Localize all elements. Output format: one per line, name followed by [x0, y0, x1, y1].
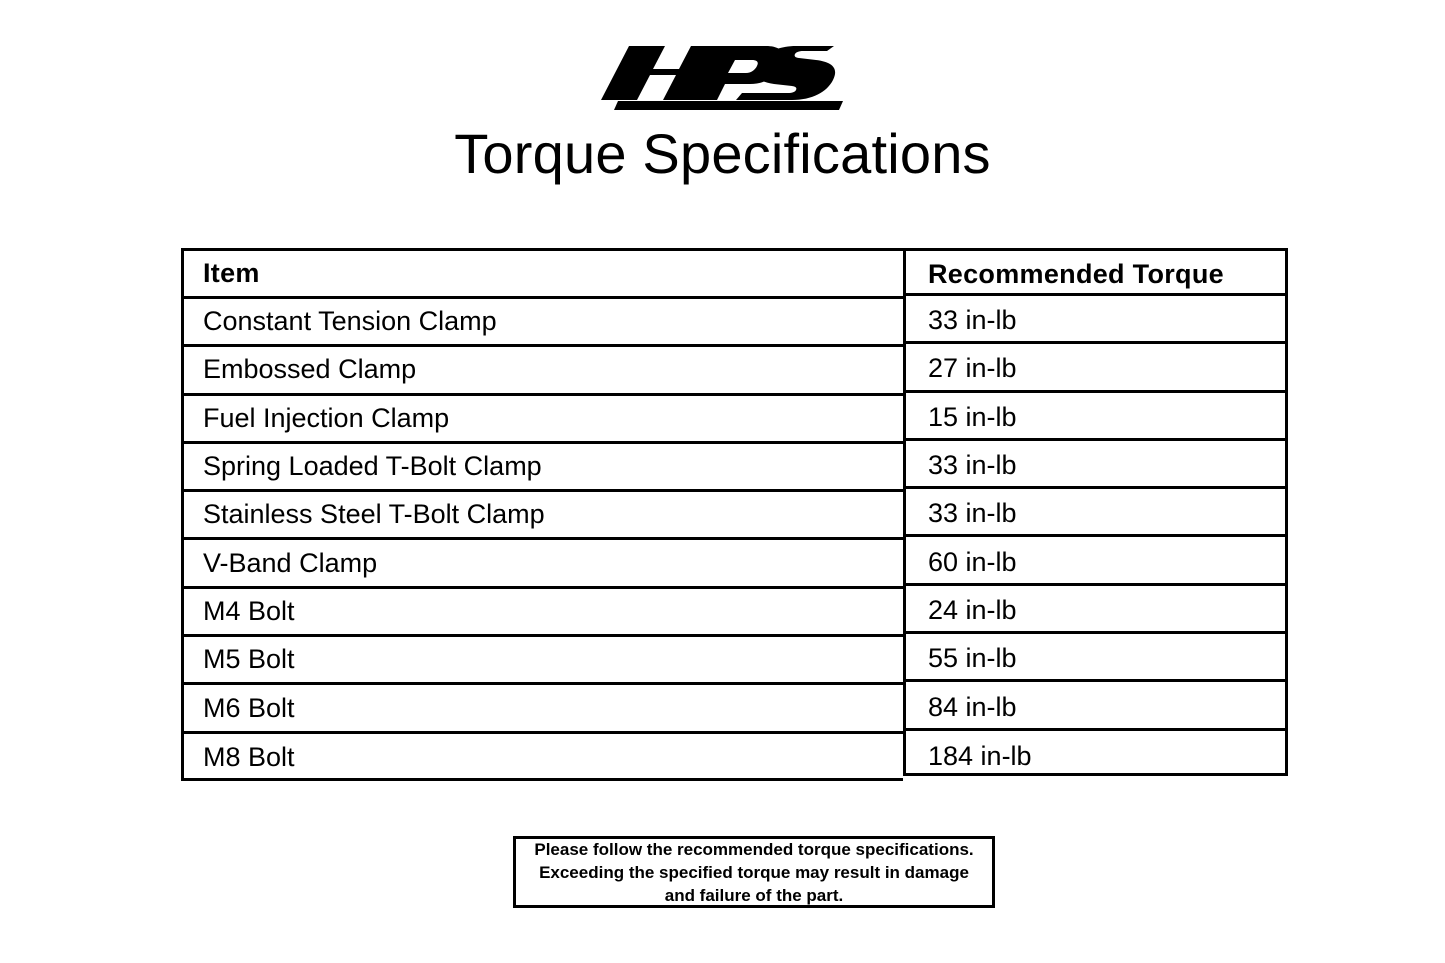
table-row: 60 in-lb	[906, 537, 1285, 585]
table-row: 84 in-lb	[906, 682, 1285, 730]
table-column-torque: Recommended Torque 33 in-lb 27 in-lb 15 …	[903, 248, 1288, 776]
footer-note-line: and failure of the part.	[665, 884, 844, 907]
table-row: 184 in-lb	[906, 731, 1285, 779]
torque-specifications-table: Item Constant Tension Clamp Embossed Cla…	[181, 248, 1288, 781]
table-row: Fuel Injection Clamp	[184, 396, 903, 444]
hps-logo	[596, 38, 844, 110]
table-row: M4 Bolt	[184, 589, 903, 637]
table-row: M5 Bolt	[184, 637, 903, 685]
table-row: Embossed Clamp	[184, 347, 903, 395]
table-column-item: Item Constant Tension Clamp Embossed Cla…	[181, 248, 903, 781]
footer-note-box: Please follow the recommended torque spe…	[513, 836, 995, 908]
column-header-recommended-torque: Recommended Torque	[906, 251, 1285, 296]
table-row: Constant Tension Clamp	[184, 299, 903, 347]
table-row: 27 in-lb	[906, 344, 1285, 392]
footer-note-line: Exceeding the specified torque may resul…	[539, 861, 969, 884]
table-row: 33 in-lb	[906, 296, 1285, 344]
footer-note-line: Please follow the recommended torque spe…	[534, 838, 973, 861]
table-row: V-Band Clamp	[184, 540, 903, 588]
table-row: 55 in-lb	[906, 634, 1285, 682]
table-row: 33 in-lb	[906, 441, 1285, 489]
table-row: 15 in-lb	[906, 393, 1285, 441]
table-row: 33 in-lb	[906, 489, 1285, 537]
page-title: Torque Specifications	[0, 126, 1445, 182]
table-row: Spring Loaded T-Bolt Clamp	[184, 444, 903, 492]
column-header-item: Item	[184, 251, 903, 299]
table-row: M6 Bolt	[184, 685, 903, 733]
table-row: Stainless Steel T-Bolt Clamp	[184, 492, 903, 540]
table-row: M8 Bolt	[184, 734, 903, 782]
table-row: 24 in-lb	[906, 586, 1285, 634]
